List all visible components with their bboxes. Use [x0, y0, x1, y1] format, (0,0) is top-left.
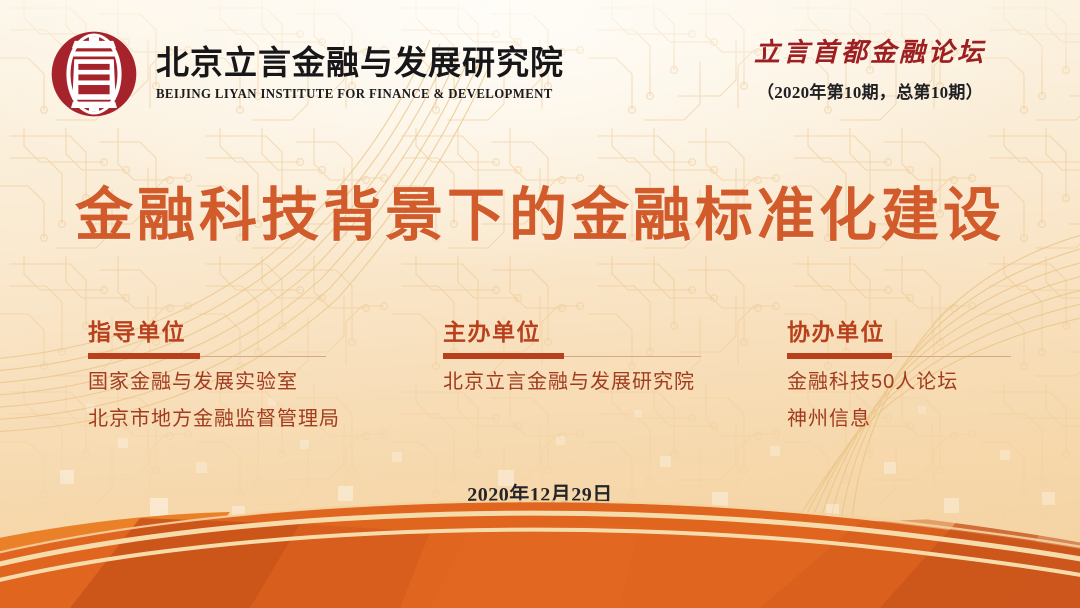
underline-thick: [443, 353, 564, 359]
list-item: 北京市地方金融监督管理局: [88, 409, 326, 429]
list-item: 金融科技50人论坛: [787, 372, 1011, 392]
org-heading: 指导单位: [88, 320, 326, 345]
list-item: 北京立言金融与发展研究院: [443, 372, 701, 392]
list-item: 神州信息: [787, 409, 1011, 429]
poster-header: 北京立言金融与发展研究院 BEIJING LIYAN INSTITUTE FOR…: [0, 0, 1080, 140]
org-heading-underline: [787, 353, 1011, 360]
page-title: 金融科技背景下的金融标准化建设: [0, 182, 1080, 250]
org-column-coorganizer: 协办单位 金融科技50人论坛 神州信息: [787, 320, 1011, 446]
event-date: 2020年12月29日: [0, 478, 1080, 507]
list-item: 国家金融与发展实验室: [88, 372, 326, 392]
org-column-host: 主办单位 北京立言金融与发展研究院: [443, 320, 701, 409]
forum-title: 立言首都金融论坛: [720, 38, 1020, 68]
forum-issue-number: （2020年第10期，总第10期）: [720, 78, 1020, 103]
organizations-section: 指导单位 国家金融与发展实验室 北京市地方金融监督管理局 主办单位 北京立言金融…: [0, 320, 1080, 460]
seal-emblem-icon: [48, 28, 140, 120]
institute-name-en: BEIJING LIYAN INSTITUTE FOR FINANCE & DE…: [156, 86, 553, 101]
institute-brand: 北京立言金融与发展研究院 BEIJING LIYAN INSTITUTE FOR…: [48, 28, 565, 120]
org-item-list: 金融科技50人论坛 神州信息: [787, 372, 1011, 429]
org-heading-underline: [443, 353, 701, 360]
org-heading: 协办单位: [787, 320, 1011, 345]
org-column-guidance: 指导单位 国家金融与发展实验室 北京市地方金融监督管理局: [88, 320, 326, 446]
institute-name-cn: 北京立言金融与发展研究院: [156, 46, 565, 83]
org-heading: 主办单位: [443, 320, 701, 345]
underline-thick: [88, 353, 200, 359]
org-item-list: 北京立言金融与发展研究院: [443, 372, 701, 392]
org-item-list: 国家金融与发展实验室 北京市地方金融监督管理局: [88, 372, 326, 429]
underline-thick: [787, 353, 892, 359]
org-heading-underline: [88, 353, 326, 360]
forum-branding: 立言首都金融论坛 （2020年第10期，总第10期）: [720, 38, 1020, 103]
conference-poster: 北京立言金融与发展研究院 BEIJING LIYAN INSTITUTE FOR…: [0, 0, 1080, 608]
